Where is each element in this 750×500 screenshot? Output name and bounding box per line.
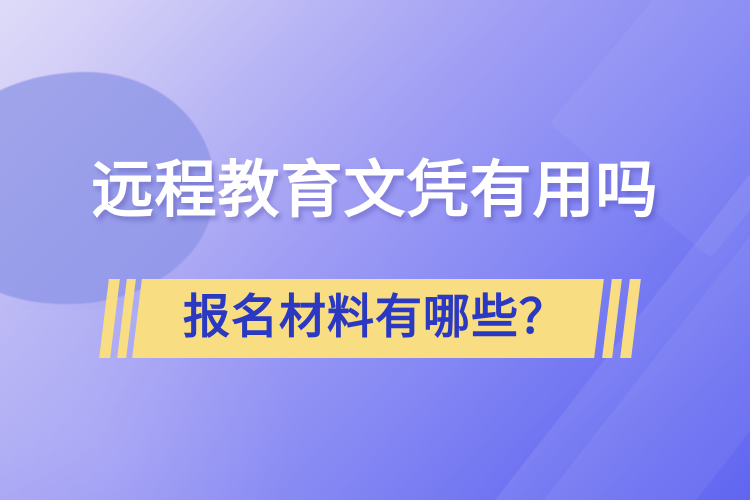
banner-title: 远程教育文凭有用吗 xyxy=(0,160,750,222)
promo-banner: 远程教育文凭有用吗 报名材料有哪些？ xyxy=(0,0,750,500)
banner-subtitle: 报名材料有哪些？ xyxy=(0,293,750,340)
